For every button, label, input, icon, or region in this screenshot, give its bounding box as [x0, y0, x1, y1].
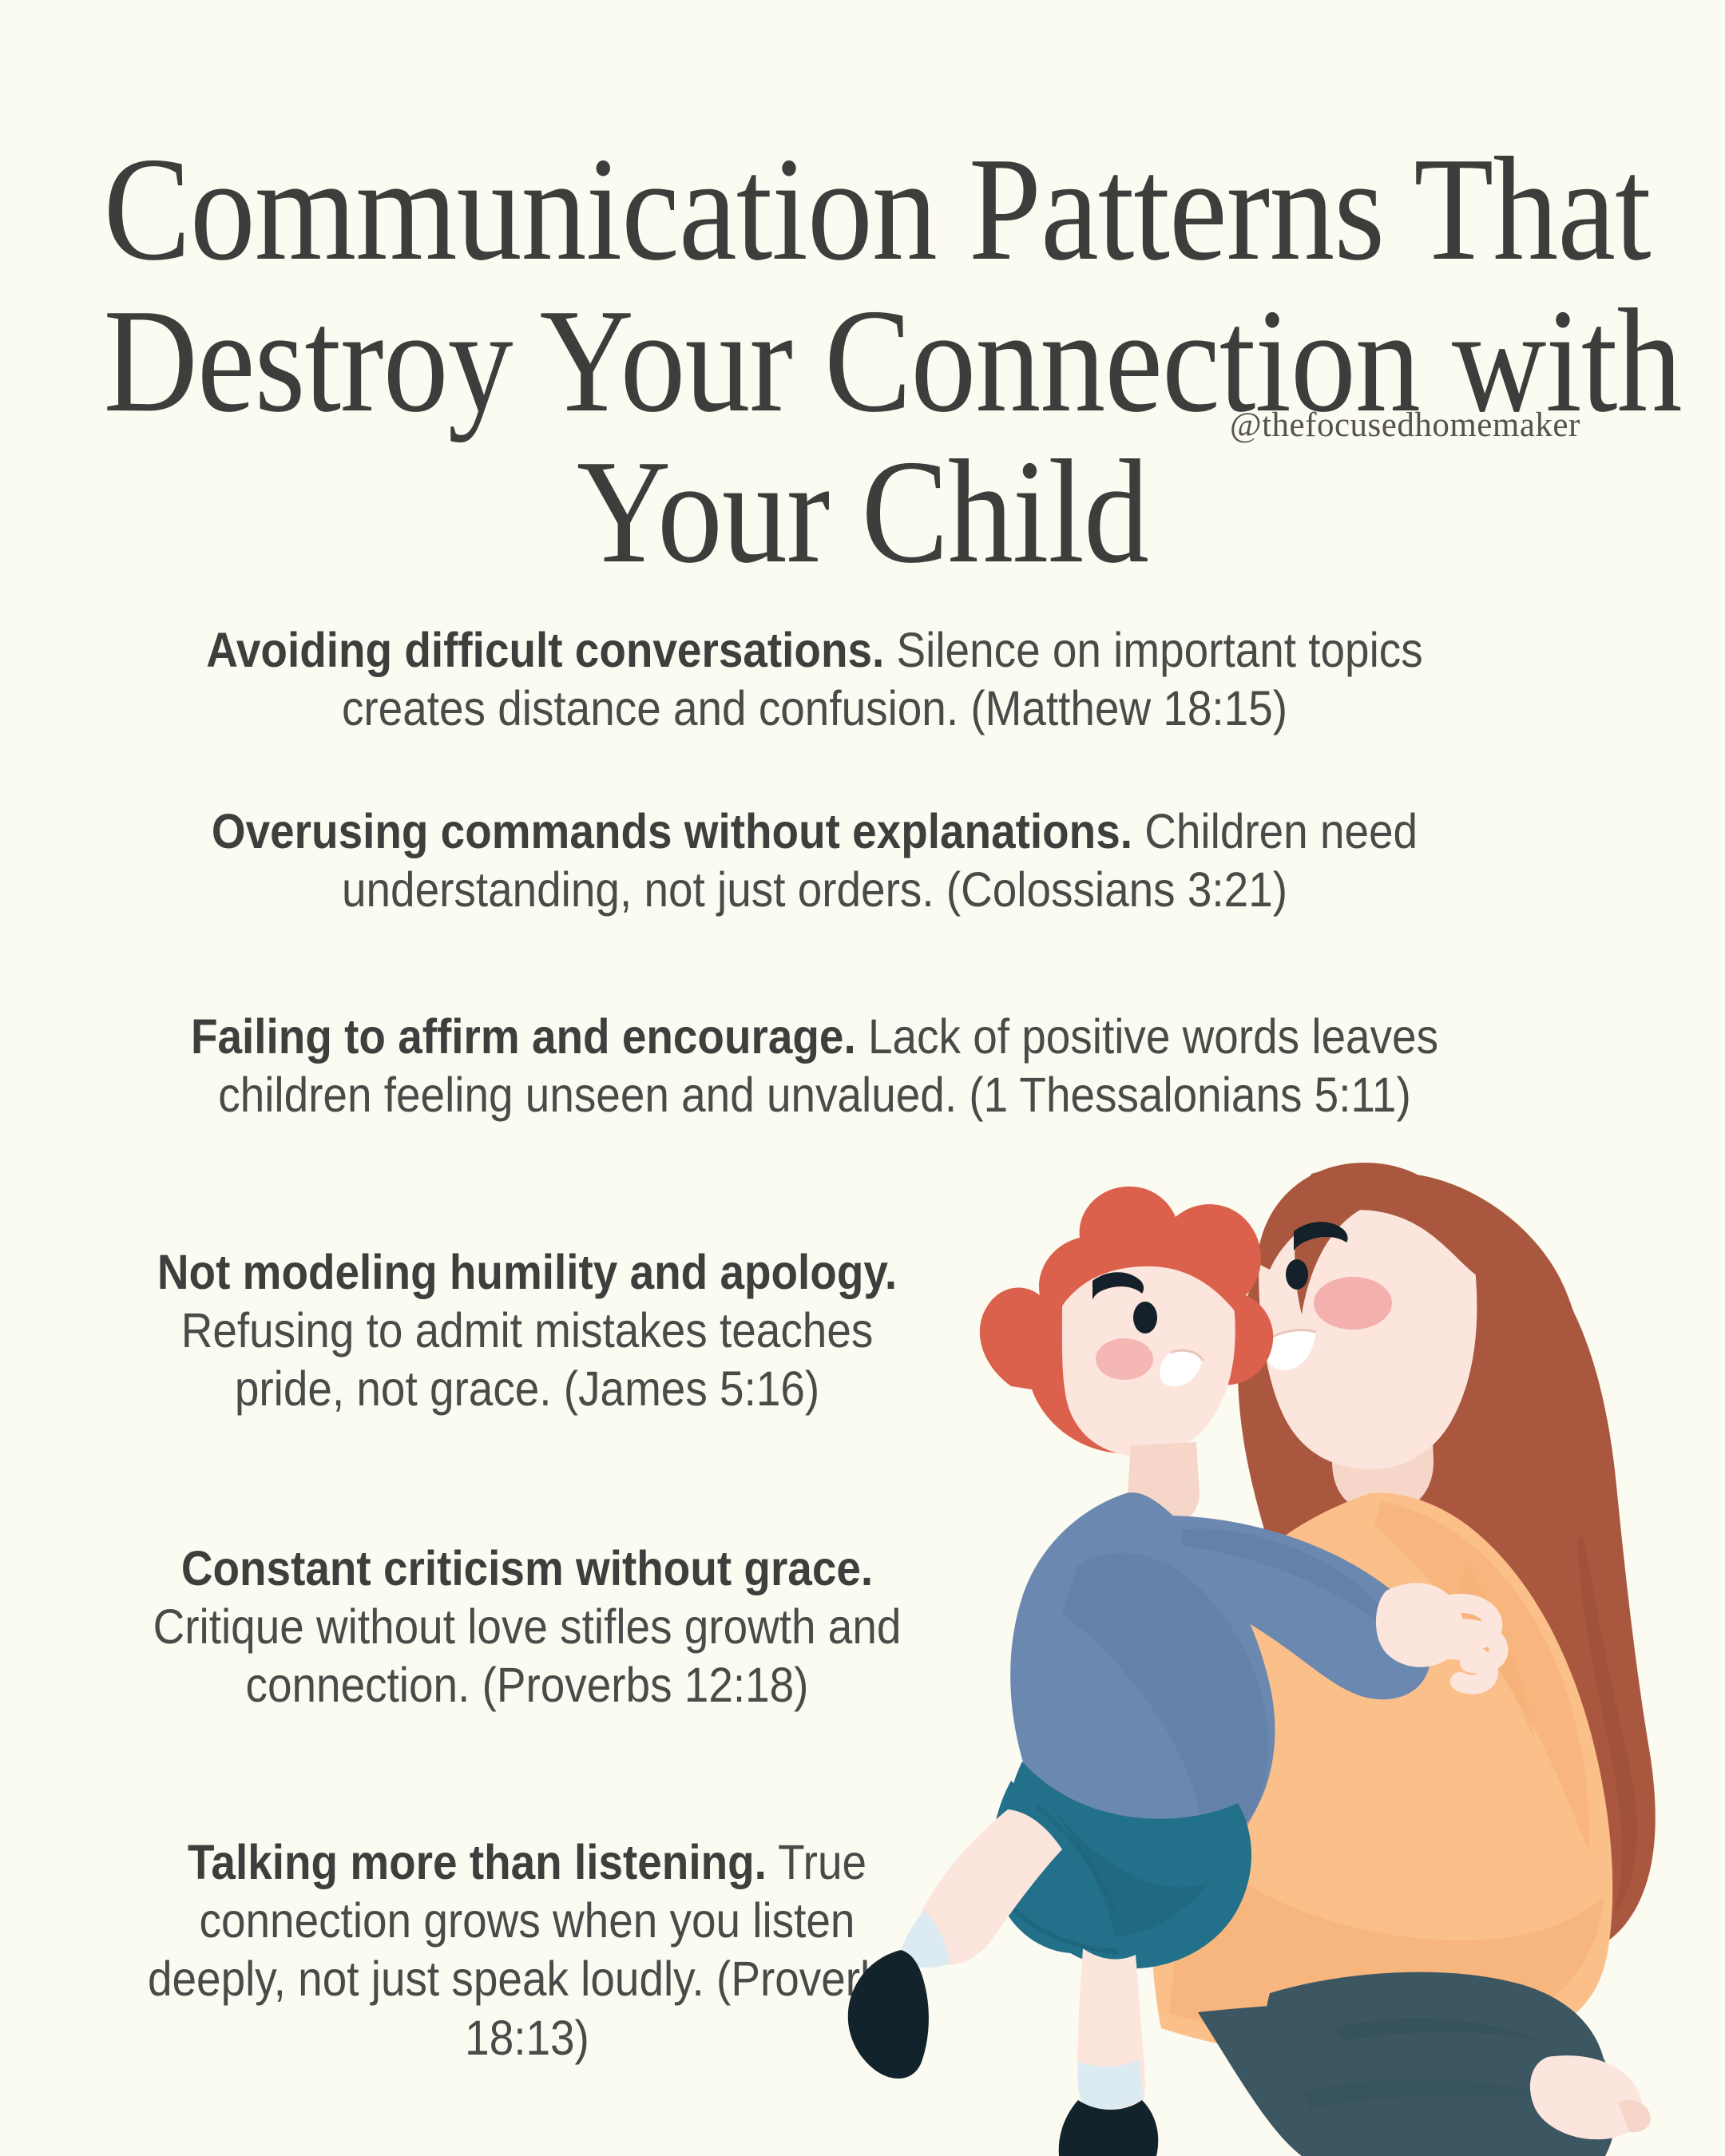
boy-blush — [1096, 1338, 1153, 1380]
tip-4-bold: Not modeling humility and apology. — [157, 1245, 897, 1299]
tip-item-1: Avoiding difficult conversations. Silenc… — [168, 621, 1461, 738]
tip-3-bold: Failing to affirm and encourage. — [191, 1009, 856, 1064]
tip-item-2: Overusing commands without explanations.… — [168, 803, 1461, 919]
mother-and-child-illustration — [823, 1118, 1725, 2156]
boy-shoe-left — [848, 1950, 929, 2079]
tip-item-6: Talking more than listening. True connec… — [139, 1833, 915, 2067]
tip-4-body: Refusing to admit mistakes teaches pride… — [181, 1303, 874, 1416]
page-title: Communication Patterns That Destroy Your… — [0, 134, 1725, 589]
infographic-poster: Communication Patterns That Destroy Your… — [0, 0, 1725, 2156]
tip-1-bold: Avoiding difficult conversations. — [206, 623, 884, 677]
account-handle: @thefocusedhomemaker — [1230, 406, 1580, 445]
tip-item-3: Failing to affirm and encourage. Lack of… — [168, 1008, 1461, 1124]
mother-blush — [1314, 1277, 1392, 1330]
tip-item-4: Not modeling humility and apology. Refus… — [139, 1243, 915, 1419]
title-line-1: Communication Patterns That — [104, 134, 1622, 286]
boy-eye — [1133, 1302, 1157, 1334]
mother-eye — [1286, 1259, 1308, 1290]
boy-sock-right — [1077, 2060, 1144, 2110]
title-line-3: Your Child — [104, 437, 1622, 589]
tip-6-bold: Talking more than listening. — [188, 1835, 767, 1889]
tip-2-bold: Overusing commands without explanations. — [212, 804, 1132, 858]
tip-item-5: Constant criticism without grace. Critiq… — [139, 1540, 915, 1715]
tip-5-bold: Constant criticism without grace. — [181, 1541, 873, 1595]
tip-5-body: Critique without love stifles growth and… — [153, 1599, 902, 1712]
